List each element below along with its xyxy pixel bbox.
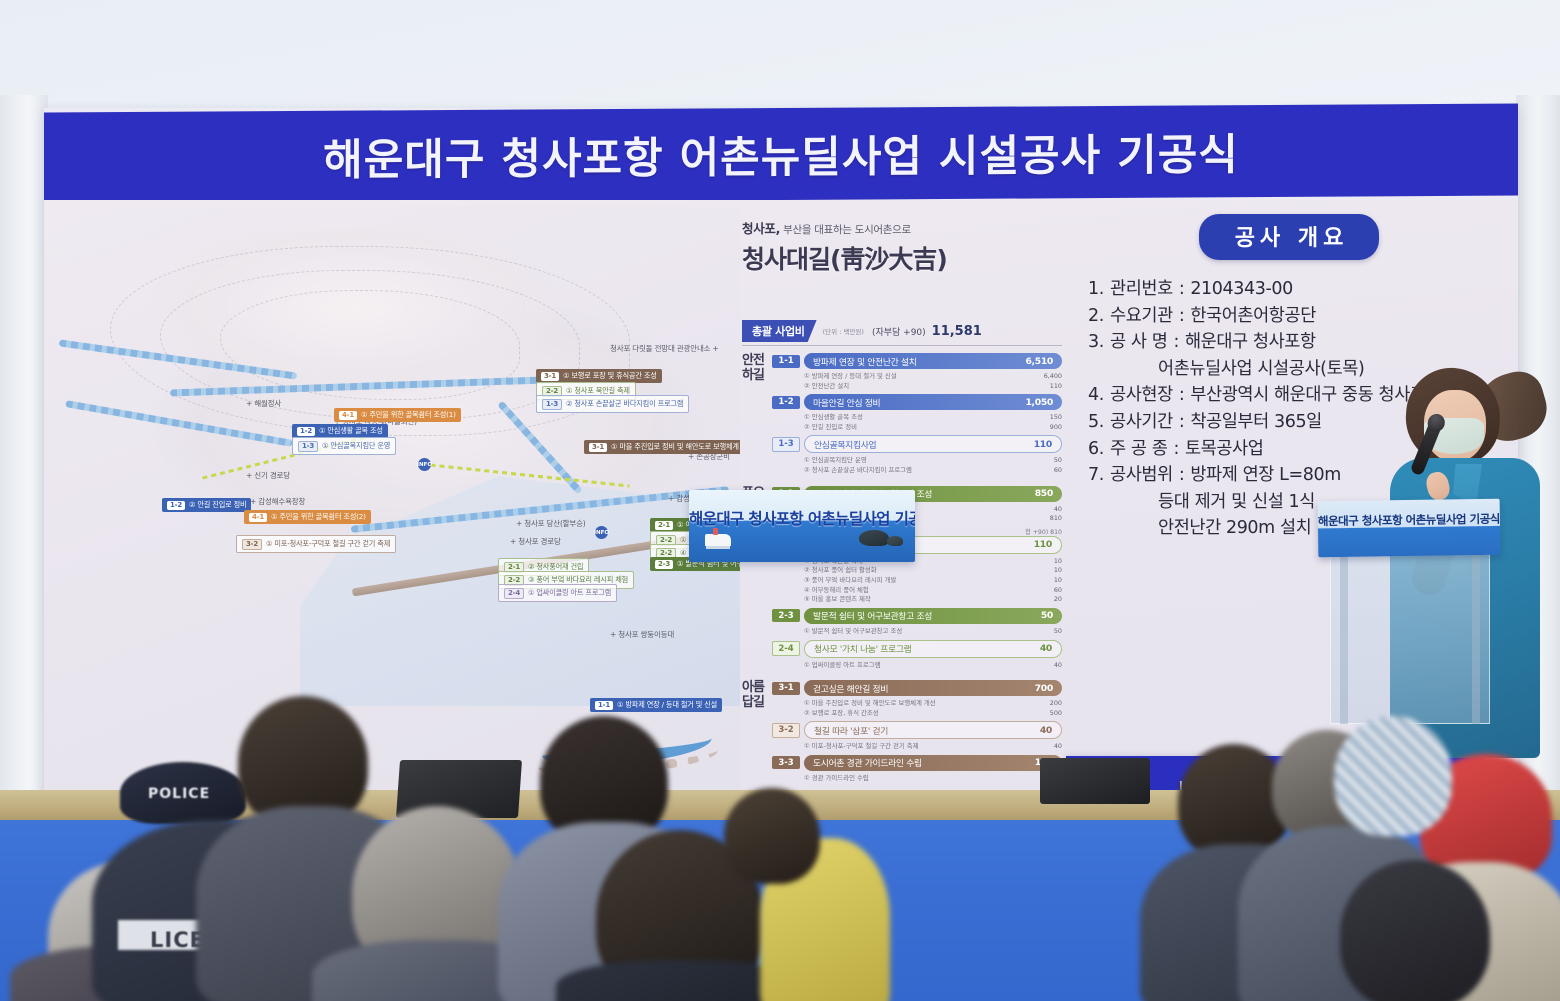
budget-sub-row: ① 방파제 연장 / 등대 철거 및 신설6,400 xyxy=(804,372,1062,382)
budget-row-name: 도시어촌 경관 가이드라인 수립 xyxy=(813,756,922,769)
map-callout-chip: 1-3① 안심골목지킴단 운영 xyxy=(292,437,396,455)
budget-sub-text: ① 발문적 쉼터 및 어구보관창고 조성 xyxy=(804,627,902,637)
overview-item-number: 1. xyxy=(1088,276,1110,303)
budget-row-value: 40 xyxy=(1040,725,1052,736)
budget-sub-row: ① 업싸이클링 아트 프로그램40 xyxy=(804,661,1062,671)
budget-row-bar: 걷고싶은 해안길 정비700 xyxy=(804,680,1062,696)
map-callout-text: ① 청사포 북안길 축제 xyxy=(566,387,630,394)
budget-sub-list: ① 미포-청사포-구덕포 철길 구간 걷기 축제40 xyxy=(772,741,1062,755)
event-photo-scene: 해운대구 청사포항 어촌뉴딜사업 시설공사 기공식 INFO INFO xyxy=(0,0,1560,1001)
map-callout-code: 4-1 xyxy=(339,411,357,420)
budget-row-bar: 철길 따라 '삼포' 걷기40 xyxy=(804,721,1062,739)
budget-row-code: 1-2 xyxy=(772,396,800,409)
overview-item-key: 공사범위 xyxy=(1110,462,1173,489)
budget-row: 2-3발문적 쉼터 및 어구보관창고 조성50 xyxy=(772,608,1062,624)
budget-row-name: 걷고싶은 해안길 정비 xyxy=(813,682,888,695)
overview-item-key: 공사현장 xyxy=(1110,382,1173,409)
map-callout-text: ① 업싸이클링 아트 프로그램 xyxy=(528,589,611,596)
budget-row-value: 1,050 xyxy=(1025,397,1053,408)
map-callout-code: 2-1 xyxy=(655,521,673,530)
map-callout-code: 3-1 xyxy=(541,372,559,381)
budget-group-rows: 3-1걷고싶은 해안길 정비700① 마을 주진입로 정비 및 해안도로 보행체… xyxy=(772,680,1062,786)
budget-group-label: 아름답길 xyxy=(742,680,772,786)
budget-row: 1-3안심골목지킴사업110 xyxy=(772,435,1062,453)
map-poi-label: + 청사포 쌍둥이등대 xyxy=(610,629,674,640)
budget-sub-row: ② 안길 진입로 정비900 xyxy=(804,423,1062,433)
budget-sub-text: ① 경관 가이드라인 수립 xyxy=(804,774,869,784)
budget-sub-text: ① 업싸이클링 아트 프로그램 xyxy=(804,661,881,671)
budget-sub-value: 900 xyxy=(1050,423,1062,433)
map-callout-text: ③ 풍어 부엌 바다요리 레시피 체험 xyxy=(528,576,628,583)
budget-row-code: 2-3 xyxy=(772,609,800,622)
overview-item-value: 한국어촌어항공단 xyxy=(1190,303,1316,330)
budget-row-code: 3-2 xyxy=(772,723,800,738)
map-callout-code: 1-3 xyxy=(542,399,562,410)
budget-self-note: (자부담 +90) xyxy=(872,325,926,338)
banner-title-text: 해운대구 청사포항 어촌뉴딜사업 시설공사 기공식 xyxy=(323,120,1239,188)
budget-row-name: 발문적 쉼터 및 어구보관창고 조성 xyxy=(813,609,932,622)
overview-item-key: 관리번호 xyxy=(1110,276,1173,303)
budget-total-tag: 총괄 사업비 xyxy=(742,320,817,342)
audience-head xyxy=(1340,860,1490,1001)
budget-row-block: 1-3안심골목지킴사업110① 안심골목지킴단 운영50② 청사포 손끝살곤 바… xyxy=(772,435,1062,478)
budget-sub-list: ① 경관 가이드라인 수립150 xyxy=(772,773,1062,787)
overview-item-separator: : xyxy=(1179,303,1185,330)
budget-sub-text: ② 안전난간 설치 xyxy=(804,382,849,392)
budget-sub-row: ① 경관 가이드라인 수립150 xyxy=(804,774,1062,784)
budget-sub-row: ① 마을 주진입로 정비 및 해안도로 보행체계 개선200 xyxy=(804,699,1062,709)
budget-sub-value: 150 xyxy=(1050,413,1062,423)
overview-item-separator: : xyxy=(1179,409,1185,436)
map-callout-chip: 3-1① 마을 주진입로 정비 및 해안도로 보행체계 개선 xyxy=(584,440,740,454)
site-map-panel: INFO INFO + 해월정사+ 청사포 사랑채(마을회관)청사포 다릿돌 전… xyxy=(50,206,740,794)
overview-item-separator: : xyxy=(1179,382,1185,409)
podium-leg xyxy=(1340,554,1348,724)
divider xyxy=(742,345,1062,346)
budget-sub-text: ③ 풍어 부엌 바다요리 레시피 개발 xyxy=(804,576,896,586)
budget-sub-value: 810 xyxy=(1050,514,1062,524)
budget-row-block: 3-3도시어촌 경관 가이드라인 수립150① 경관 가이드라인 수립150 xyxy=(772,755,1062,787)
rock-icon xyxy=(887,536,903,546)
budget-sub-value: 60 xyxy=(1054,466,1062,476)
budget-sub-row: ① 발문적 쉼터 및 어구보관창고 조성50 xyxy=(804,627,1062,637)
budget-row-name: 철길 따라 '삼포' 걷기 xyxy=(814,724,888,737)
budget-sub-row: ④ 어부동해리 풍어 체험60 xyxy=(804,586,1062,596)
budget-sub-value: 10 xyxy=(1054,566,1062,576)
overview-item-number: 3. xyxy=(1088,329,1110,356)
budget-total-value: 11,581 xyxy=(932,324,982,339)
map-callout-text: ① 주민을 위한 골목쉼터 조성(2) xyxy=(271,513,366,520)
pa-speaker-box xyxy=(1040,758,1150,804)
budget-eyebrow-rest: 부산을 대표하는 도시어촌으로 xyxy=(783,224,911,236)
map-callout-code: 3-2 xyxy=(242,539,262,550)
budget-sub-value: 10 xyxy=(1054,576,1062,586)
overview-item-number: 4. xyxy=(1088,382,1110,409)
budget-sub-list: ① 방파제 연장 / 등대 철거 및 신설6,400② 안전난간 설치110 xyxy=(772,371,1062,394)
map-callout-code: 3-1 xyxy=(589,443,607,452)
foreground-event-sign-text: 해운대구 청사포항 어촌뉴딜사업 기공식 xyxy=(689,507,915,529)
police-cap-text: POLICE xyxy=(148,786,210,802)
budget-sub-text: ⑤ 마을 홍보 콘텐츠 제작 xyxy=(804,595,871,605)
budget-row-code: 1-1 xyxy=(772,355,800,368)
budget-row-code: 3-1 xyxy=(772,682,800,695)
budget-sub-value: 20 xyxy=(1054,595,1062,605)
overview-item-value: 방파제 연장 L=80m xyxy=(1190,462,1341,489)
overview-item-number: 6. xyxy=(1088,436,1110,463)
budget-sub-text: ① 미포-청사포-구덕포 철길 구간 걷기 축제 xyxy=(804,742,919,752)
budget-sub-value: 50 xyxy=(1054,627,1062,637)
budget-sub-value: 40 xyxy=(1054,661,1062,671)
budget-sub-value: 10 xyxy=(1054,557,1062,567)
budget-group: 안전하길1-1방파제 연장 및 안전난간 설치6,510① 방파제 연장 / 등… xyxy=(742,353,1062,479)
budget-sub-row: ② 안전난간 설치110 xyxy=(804,382,1062,392)
budget-sub-text: ① 안심생활 골목 조성 xyxy=(804,413,863,423)
budget-row-bar: 방파제 연장 및 안전난간 설치6,510 xyxy=(804,353,1062,369)
overview-badge: 공사 개요 xyxy=(1199,214,1379,260)
budget-sub-row: ③ 풍어 부엌 바다요리 레시피 개발10 xyxy=(804,576,1062,586)
budget-row-block: 3-1걷고싶은 해안길 정비700① 마을 주진입로 정비 및 해안도로 보행체… xyxy=(772,680,1062,721)
audience-head xyxy=(724,788,820,884)
budget-sub-text: ① 마을 주진입로 정비 및 해안도로 보행체계 개선 xyxy=(804,699,936,709)
budget-sub-row: ① 미포-청사포-구덕포 철길 구간 걷기 축제40 xyxy=(804,742,1062,752)
budget-sub-text: ① 안심골목지킴단 운영 xyxy=(804,456,867,466)
budget-sub-list: ① 청사포 북안길 축제10② 청사포 풍어 쉼터 활성화10③ 풍어 부엌 바… xyxy=(772,556,1062,608)
budget-row-name: 안심골목지킴사업 xyxy=(814,438,876,451)
budget-row-value: 700 xyxy=(1035,683,1053,694)
budget-sub-value: 50 xyxy=(1054,456,1062,466)
boat-icon xyxy=(705,534,731,546)
map-callout-text: ② 청사포 손끝살군 바다지킴이 프로그램 xyxy=(566,400,683,407)
podium-leg xyxy=(1472,554,1480,724)
budget-sub-text: ④ 어부동해리 풍어 체험 xyxy=(804,586,869,596)
budget-total-row: 총괄 사업비 (단위 : 백만원) (자부담 +90) 11,581 xyxy=(742,320,1062,342)
map-callout-code: 2-4 xyxy=(504,588,524,599)
overview-item-separator: : xyxy=(1173,329,1179,356)
budget-row-bar: 마을안길 안심 정비1,050 xyxy=(804,394,1062,410)
budget-sub-text: ② 청사포 손끝살곤 바다지킴이 프로그램 xyxy=(804,466,912,476)
overview-item-key: 공 사 명 xyxy=(1110,329,1167,356)
budget-row-name: 방파제 연장 및 안전난간 설치 xyxy=(813,355,917,368)
budget-row: 1-1방파제 연장 및 안전난간 설치6,510 xyxy=(772,353,1062,369)
overview-item: 3.공 사 명:해운대구 청사포항 xyxy=(1088,329,1512,356)
budget-sub-row: ① 안심골목지킴단 운영50 xyxy=(804,456,1062,466)
budget-sub-text: ① 방파제 연장 / 등대 철거 및 신설 xyxy=(804,372,897,382)
budget-sub-row: ② 보행로 포장, 휴식 간조성500 xyxy=(804,709,1062,719)
stage-pillar-left xyxy=(0,95,48,795)
map-callout-chip: 3-2① 미포-청사포-구덕포 철길 구간 걷기 축제 xyxy=(236,535,396,553)
map-callout-chip: 1-3② 청사포 손끝살군 바다지킴이 프로그램 xyxy=(536,395,689,413)
map-callout-text: ① 주민을 위한 골목쉼터 조성(1) xyxy=(361,411,456,418)
budget-row-block: 1-1방파제 연장 및 안전난간 설치6,510① 방파제 연장 / 등대 철거… xyxy=(772,353,1062,394)
budget-row: 3-3도시어촌 경관 가이드라인 수립150 xyxy=(772,755,1062,771)
budget-row-value: 50 xyxy=(1041,610,1053,621)
overview-item-number: 2. xyxy=(1088,303,1110,330)
overview-item-separator: : xyxy=(1179,462,1185,489)
map-callout-chip: 4-1① 주민을 위한 골목쉼터 조성(1) xyxy=(334,408,461,422)
budget-unit-note: (단위 : 백만원) xyxy=(823,326,864,336)
overview-item-key: 수요기관 xyxy=(1110,303,1173,330)
map-callout-text: ① 보행로 포장 및 휴식공간 조성 xyxy=(563,372,657,379)
banner-title-bar: 해운대구 청사포항 어촌뉴딜사업 시설공사 기공식 xyxy=(44,103,1518,204)
info-pin-icon: INFO xyxy=(595,526,608,539)
budget-sub-row: ② 청사포 손끝살곤 바다지킴이 프로그램60 xyxy=(804,466,1062,476)
map-callout-text: ① 미포-청사포-구덕포 철길 구간 걷기 축제 xyxy=(266,540,390,547)
budget-sub-text: ② 보행로 포장, 휴식 간조성 xyxy=(804,709,879,719)
budget-row-value: 40 xyxy=(1040,643,1052,654)
map-callout-chip: 3-1① 보행로 포장 및 휴식공간 조성 xyxy=(536,369,662,383)
budget-headline: 청사대길(靑沙大吉) xyxy=(742,240,1062,276)
map-poi-label: + 신기 경로당 xyxy=(246,470,290,481)
budget-row-code: 2-4 xyxy=(772,641,800,656)
budget-row-code: 1-3 xyxy=(772,437,800,452)
budget-group-rows: 1-1방파제 연장 및 안전난간 설치6,510① 방파제 연장 / 등대 철거… xyxy=(772,353,1062,479)
map-callout-text: ② 안길 진입로 정비 xyxy=(189,501,246,508)
budget-sub-list: ① 안심생활 골목 조성150② 안길 진입로 정비900 xyxy=(772,412,1062,435)
overview-item-key: 공사기간 xyxy=(1110,409,1173,436)
budget-sub-list: ① 발문적 쉼터 및 어구보관창고 조성50 xyxy=(772,626,1062,640)
overview-item-separator: : xyxy=(1179,276,1185,303)
map-callout-chip: 1-2① 안심생활 골목 조성 xyxy=(292,424,388,438)
budget-row: 1-2마을안길 안심 정비1,050 xyxy=(772,394,1062,410)
map-poi-label: 청사포 다릿돌 전망대 관광안내소 + xyxy=(610,343,719,354)
budget-sub-list: ① 업싸이클링 아트 프로그램40 xyxy=(772,660,1062,674)
budget-row-value: 6,510 xyxy=(1025,356,1053,367)
backdrop-board: 해운대구 청사포항 어촌뉴딜사업 시설공사 기공식 INFO INFO xyxy=(44,108,1518,798)
map-poi-label: + 청사포 당산(할부승) xyxy=(516,518,586,529)
budget-sub-row: ⑤ 마을 홍보 콘텐츠 제작20 xyxy=(804,595,1062,605)
map-callout-code: 1-1 xyxy=(595,701,613,710)
budget-row-block: 3-2철길 따라 '삼포' 걷기40① 미포-청사포-구덕포 철길 구간 걷기 … xyxy=(772,721,1062,755)
budget-eyebrow: 청사포, 부산을 대표하는 도시어촌으로 xyxy=(742,218,1062,237)
budget-sub-value: 40 xyxy=(1054,505,1062,515)
map-poi-label: + 해월정사 xyxy=(246,398,281,409)
foreground-event-sign: 해운대구 청사포항 어촌뉴딜사업 기공식 xyxy=(689,490,915,562)
budget-row-value: 110 xyxy=(1034,439,1052,450)
overview-item-value: 해운대구 청사포항 xyxy=(1185,329,1316,356)
budget-row-value: 850 xyxy=(1035,488,1053,499)
budget-sub-value: 40 xyxy=(1054,742,1062,752)
map-callout-code: 1-3 xyxy=(298,441,318,452)
overview-item-value: 2104343-00 xyxy=(1190,276,1293,303)
budget-sub-list: ① 안심골목지킴단 운영50② 청사포 손끝살곤 바다지킴이 프로그램60 xyxy=(772,455,1062,478)
map-poi-label: + 청사포 경로당 xyxy=(510,536,561,547)
budget-row-block: 2-3발문적 쉼터 및 어구보관창고 조성50① 발문적 쉼터 및 어구보관창고… xyxy=(772,608,1062,640)
budget-row-bar: 청사모 '가치 나눔' 프로그램40 xyxy=(804,640,1062,658)
overview-item-key: 주 공 종 xyxy=(1110,436,1167,463)
budget-sub-value: 6,400 xyxy=(1044,372,1062,382)
budget-sub-value: 500 xyxy=(1050,709,1062,719)
budget-row-bar: 안심골목지킴사업110 xyxy=(804,435,1062,453)
budget-eyebrow-lead: 청사포, xyxy=(742,221,780,236)
info-pin-icon: INFO xyxy=(418,458,431,471)
budget-group-label: 안전하길 xyxy=(742,353,772,479)
budget-row-block: 1-2마을안길 안심 정비1,050① 안심생활 골목 조성150② 안길 진입… xyxy=(772,394,1062,435)
budget-row: 3-2철길 따라 '삼포' 걷기40 xyxy=(772,721,1062,739)
audience-head-patterned xyxy=(1334,716,1452,836)
budget-row-value: 110 xyxy=(1034,539,1052,550)
budget-sub-text: ② 청사포 풍어 쉼터 활성화 xyxy=(804,566,877,576)
map-callout-chip: 4-1① 주민을 위한 골목쉼터 조성(2) xyxy=(244,510,371,524)
budget-sub-value: 110 xyxy=(1050,382,1062,392)
budget-sub-row: ② 청사포 풍어 쉼터 활성화10 xyxy=(804,566,1062,576)
overview-item-value: 토목공사업 xyxy=(1185,436,1264,463)
budget-row-name: 청사모 '가치 나눔' 프로그램 xyxy=(814,642,911,655)
budget-sub-row: ① 안심생활 골목 조성150 xyxy=(804,413,1062,423)
budget-row-bar: 발문적 쉼터 및 어구보관창고 조성50 xyxy=(804,608,1062,624)
map-callout-chip: 1-2② 안길 진입로 정비 xyxy=(162,498,251,512)
map-callout-code: 1-2 xyxy=(167,501,185,510)
map-callout-code: 2-3 xyxy=(655,560,673,569)
map-callout-chip: 2-4① 업싸이클링 아트 프로그램 xyxy=(498,584,617,602)
budget-row-code: 3-3 xyxy=(772,756,800,769)
map-callout-chip: 1-1① 방파제 연장 / 등대 철거 및 신설 xyxy=(590,698,722,712)
map-callout-text: ① 안심골목지킴단 운영 xyxy=(322,442,390,449)
podium-sign-text: 해운대구 청사포항 어촌뉴딜사업 기공식 xyxy=(1318,511,1500,530)
rock-icon xyxy=(859,530,889,546)
overview-item-number: 7. xyxy=(1088,462,1110,489)
budget-sub-value: 60 xyxy=(1054,586,1062,596)
budget-row-block: 2-4청사모 '가치 나눔' 프로그램40① 업싸이클링 아트 프로그램40 xyxy=(772,640,1062,674)
budget-sub-text: ② 안길 진입로 정비 xyxy=(804,423,857,433)
overview-item-value: 착공일부터 365일 xyxy=(1190,409,1322,436)
overview-item: 2.수요기관:한국어촌어항공단 xyxy=(1088,303,1512,330)
overview-item: 1.관리번호:2104343-00 xyxy=(1088,276,1512,303)
map-callout-text: ① 방파제 연장 / 등대 철거 및 신설 xyxy=(617,701,717,708)
map-callout-text: ① 안심생활 골목 조성 xyxy=(319,427,383,434)
budget-row-name: 마을안길 안심 정비 xyxy=(813,396,880,409)
map-callout-code: 1-2 xyxy=(297,427,315,436)
budget-row-bar: 도시어촌 경관 가이드라인 수립150 xyxy=(804,755,1062,771)
map-poi-label: + 감성해수욕장창 xyxy=(250,496,305,507)
map-callout-code: 4-1 xyxy=(249,513,267,522)
map-callout-text: ② 청사풍어재 건립 xyxy=(528,563,583,570)
budget-group: 아름답길3-1걷고싶은 해안길 정비700① 마을 주진입로 정비 및 해안도로… xyxy=(742,680,1062,786)
budget-sub-list: ① 마을 주진입로 정비 및 해안도로 보행체계 개선200② 보행로 포장, … xyxy=(772,698,1062,721)
map-callout-text: ① 마을 주진입로 정비 및 해안도로 보행체계 개선 xyxy=(611,443,740,450)
budget-sub-value: 200 xyxy=(1050,699,1062,709)
budget-row: 3-1걷고싶은 해안길 정비700 xyxy=(772,680,1062,696)
overview-item-separator: : xyxy=(1173,436,1179,463)
budget-row: 2-4청사모 '가치 나눔' 프로그램40 xyxy=(772,640,1062,658)
acrylic-podium xyxy=(1330,554,1490,724)
podium-sign: 해운대구 청사포항 어촌뉴딜사업 기공식 xyxy=(1318,499,1501,558)
overview-item-number: 5. xyxy=(1088,409,1110,436)
